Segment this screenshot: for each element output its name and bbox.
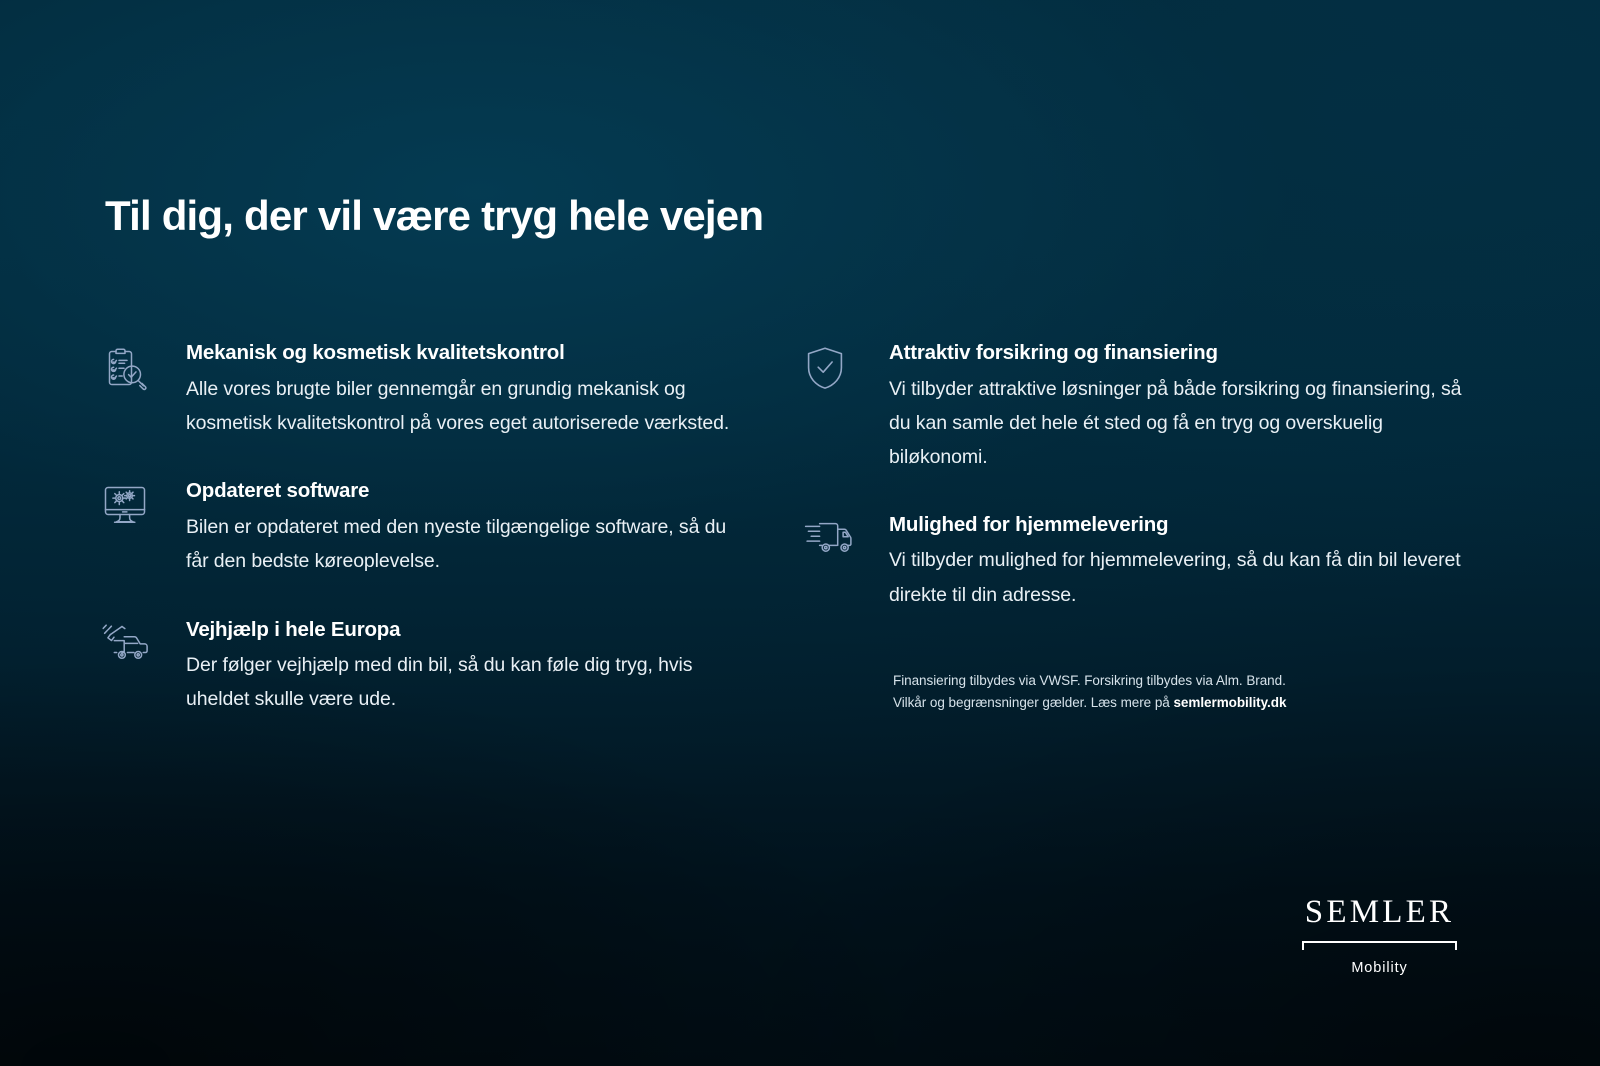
logo-subtitle: Mobility — [1302, 960, 1457, 976]
feature-title: Mekanisk og kosmetisk kvalitetskontrol — [186, 340, 740, 366]
feature-text: Opdateret software Bilen er opdateret me… — [162, 478, 740, 578]
feature-title: Attraktiv forsikring og finansiering — [889, 340, 1463, 366]
disclaimer-line-2: Vilkår og begrænsninger gælder. Læs mere… — [893, 692, 1413, 714]
features-column-left: Mekanisk og kosmetisk kvalitetskontrol A… — [100, 340, 740, 717]
feature-body: Vi tilbyder mulighed for hjemmelevering,… — [889, 543, 1463, 612]
feature-text: Attraktiv forsikring og finansiering Vi … — [865, 340, 1463, 475]
disclaimer-line-1: Finansiering tilbydes via VWSF. Forsikri… — [893, 670, 1413, 692]
clipboard-check-magnifier-icon — [100, 340, 162, 396]
shield-check-icon — [803, 340, 865, 396]
feature-item: Mekanisk og kosmetisk kvalitetskontrol A… — [100, 340, 740, 440]
delivery-truck-icon — [803, 512, 865, 568]
feature-item: Opdateret software Bilen er opdateret me… — [100, 478, 740, 578]
logo-rule — [1302, 941, 1457, 951]
disclaimer: Finansiering tilbydes via VWSF. Forsikri… — [893, 670, 1413, 714]
disclaimer-line-2-text: Vilkår og begrænsninger gælder. Læs mere… — [893, 695, 1173, 710]
tow-truck-icon — [100, 617, 162, 673]
semlermobility-link[interactable]: semlermobility.dk — [1173, 695, 1286, 710]
feature-body: Der følger vejhjælp med din bil, så du k… — [186, 648, 740, 717]
semler-mobility-logo: SEMLER Mobility — [1302, 896, 1457, 976]
feature-text: Vejhjælp i hele Europa Der følger vejhjæ… — [162, 617, 740, 717]
features-column-right: Attraktiv forsikring og finansiering Vi … — [803, 340, 1463, 612]
feature-title: Opdateret software — [186, 478, 740, 504]
feature-body: Alle vores brugte biler gennemgår en gru… — [186, 372, 740, 441]
feature-text: Mulighed for hjemmelevering Vi tilbyder … — [865, 512, 1463, 612]
feature-item: Vejhjælp i hele Europa Der følger vejhjæ… — [100, 617, 740, 717]
logo-wordmark: SEMLER — [1302, 896, 1457, 929]
page-title: Til dig, der vil være tryg hele vejen — [105, 192, 763, 240]
feature-body: Vi tilbyder attraktive løsninger på både… — [889, 372, 1463, 475]
promotional-banner: Til dig, der vil være tryg hele vejen — [0, 0, 1600, 1066]
feature-item: Mulighed for hjemmelevering Vi tilbyder … — [803, 512, 1463, 612]
feature-item: Attraktiv forsikring og finansiering Vi … — [803, 340, 1463, 475]
feature-text: Mekanisk og kosmetisk kvalitetskontrol A… — [162, 340, 740, 440]
monitor-gears-icon — [100, 478, 162, 534]
feature-title: Mulighed for hjemmelevering — [889, 512, 1463, 538]
feature-body: Bilen er opdateret med den nyeste tilgæn… — [186, 510, 740, 579]
feature-title: Vejhjælp i hele Europa — [186, 617, 740, 643]
